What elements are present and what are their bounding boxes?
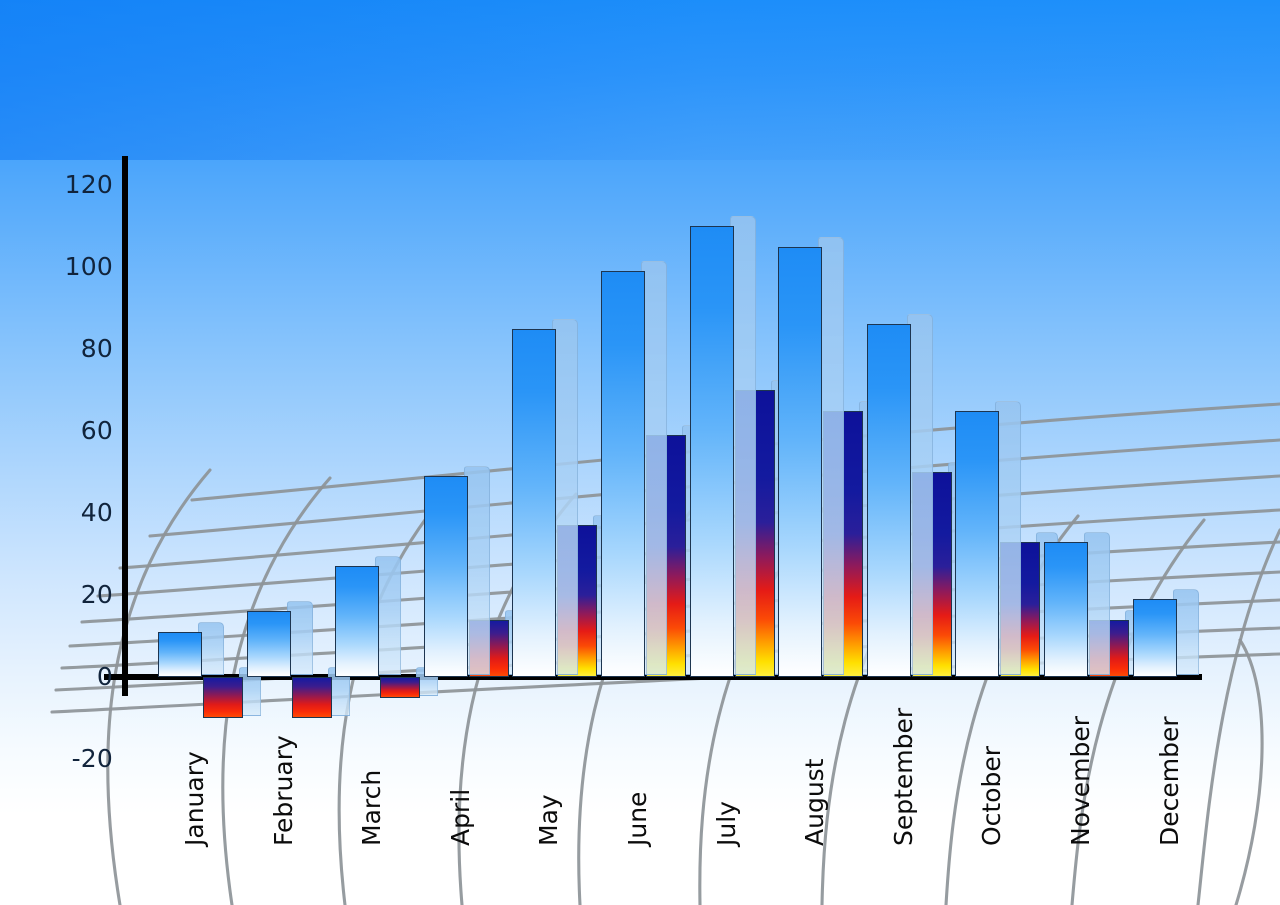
bar-face	[1044, 542, 1088, 677]
y-tick-label-40: 40	[55, 498, 113, 527]
bar-series1-june	[601, 261, 671, 677]
bar-face	[955, 411, 999, 678]
bar-series1-may	[512, 319, 582, 678]
x-axis-label-july: July	[712, 801, 741, 846]
bar-series1-january	[158, 622, 228, 677]
bar-face	[424, 476, 468, 677]
bar-series1-october	[955, 401, 1025, 678]
bar-face	[335, 566, 379, 677]
y-tick-label-100: 100	[55, 252, 113, 281]
bar-series1-march	[335, 556, 405, 677]
y-tick-label-neg20: -20	[55, 744, 113, 773]
x-axis-label-april: April	[446, 789, 475, 846]
bar-series1-july	[690, 216, 760, 677]
bar-series1-april	[424, 466, 494, 677]
bar-face	[292, 677, 332, 718]
x-axis-label-september: September	[889, 708, 918, 846]
bar-face	[1133, 599, 1177, 677]
bar-face	[867, 324, 911, 677]
y-tick-label-0: 0	[55, 662, 113, 691]
bar-series1-september	[867, 314, 937, 677]
x-axis-label-january: January	[180, 751, 209, 846]
bar-series1-august	[778, 237, 848, 678]
y-tick-label-80: 80	[55, 334, 113, 363]
x-axis-label-february: February	[269, 735, 298, 846]
bar-face	[247, 611, 291, 677]
x-axis-label-june: June	[623, 792, 652, 846]
y-tick-label-60: 60	[55, 416, 113, 445]
plot-area: 120 100 80 60 40 20 0 -20 JanuaryFebruar…	[0, 0, 1280, 905]
x-axis-label-august: August	[800, 759, 829, 847]
bar-face	[380, 677, 420, 698]
chart-canvas: 120 100 80 60 40 20 0 -20 JanuaryFebruar…	[0, 0, 1280, 905]
y-axis	[122, 156, 128, 696]
y-tick-label-20: 20	[55, 580, 113, 609]
x-axis-label-november: November	[1066, 716, 1095, 846]
y-tick-label-120: 120	[55, 170, 113, 199]
bar-series1-december	[1133, 589, 1203, 677]
bar-face	[512, 329, 556, 678]
bar-face	[203, 677, 243, 718]
bar-series1-february	[247, 601, 317, 677]
x-axis-label-october: October	[977, 746, 1006, 846]
bar-series1-november	[1044, 532, 1114, 677]
bar-face	[601, 271, 645, 677]
x-axis-label-may: May	[534, 794, 563, 846]
bar-face	[690, 226, 734, 677]
x-axis-label-march: March	[357, 770, 386, 846]
bar-face	[158, 632, 202, 677]
x-axis-label-december: December	[1155, 716, 1184, 846]
bar-face	[778, 247, 822, 678]
